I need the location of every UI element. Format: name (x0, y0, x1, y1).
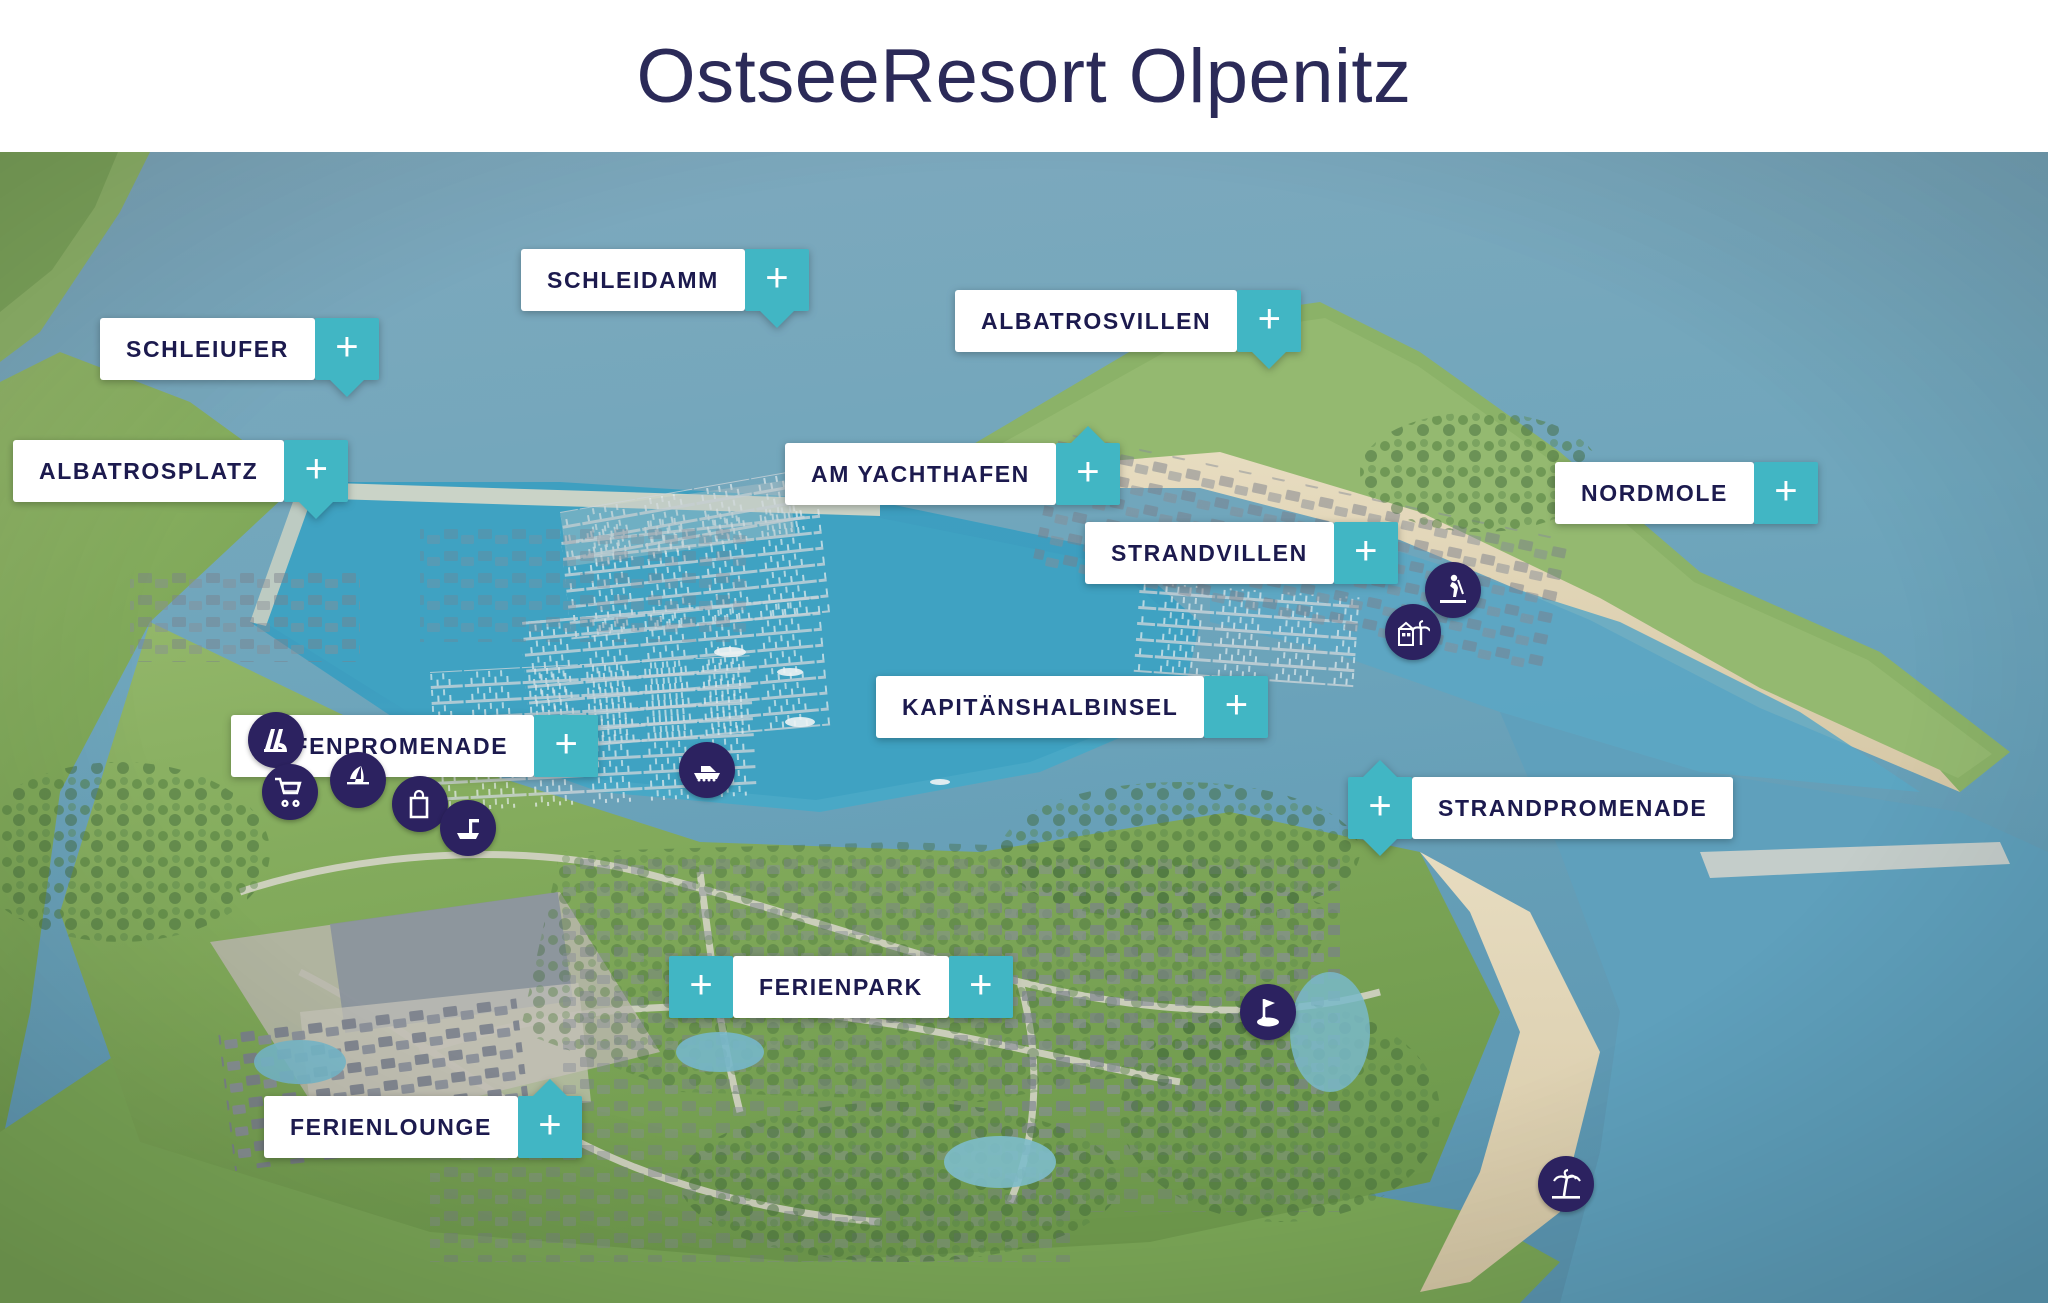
hotspot-label-strandpromenade: STRANDPROMENADE (1438, 795, 1707, 822)
hotspot-label-box-strandvillen[interactable]: STRANDVILLEN (1085, 522, 1334, 584)
plus-button-strandpromenade-left[interactable]: + (1348, 777, 1412, 839)
plus-button-albatrosplatz-right[interactable]: + (284, 440, 348, 502)
plus-icon: + (1258, 299, 1281, 339)
hotspot-strandpromenade[interactable]: +STRANDPROMENADE (1348, 777, 1733, 839)
hotspot-label-box-am-yachthafen[interactable]: AM YACHTHAFEN (785, 443, 1056, 505)
poi-beach[interactable] (1538, 1156, 1594, 1212)
hotspot-label-box-schleiufer[interactable]: SCHLEIUFER (100, 318, 315, 380)
hotspot-label-strandvillen: STRANDVILLEN (1111, 540, 1308, 567)
hotspot-nordmole[interactable]: NORDMOLE+ (1555, 462, 1818, 524)
plus-icon: + (305, 449, 328, 489)
plus-icon: + (1774, 471, 1797, 511)
hotspot-label-albatrosplatz: ALBATROSPLATZ (39, 458, 258, 485)
plus-icon: + (538, 1105, 561, 1145)
hotspot-am-yachthafen[interactable]: AM YACHTHAFEN+ (785, 443, 1120, 505)
shopping-cart-icon (273, 775, 307, 809)
golf-icon (1251, 995, 1285, 1029)
hotspot-label-nordmole: NORDMOLE (1581, 480, 1728, 507)
hotspot-label-kapitaenshalbinsel: KAPITÄNSHALBINSEL (902, 694, 1178, 721)
plus-icon: + (689, 965, 712, 1005)
poi-yacht[interactable] (679, 742, 735, 798)
poi-golf[interactable] (1240, 984, 1296, 1040)
hotspot-ferienlounge[interactable]: FERIENLOUNGE+ (264, 1096, 582, 1158)
motorboat-icon (690, 753, 724, 787)
poi-sailing[interactable] (330, 752, 386, 808)
plus-button-albatrosvillen-right[interactable]: + (1237, 290, 1301, 352)
plus-icon: + (1225, 685, 1248, 725)
page-header: OstseeResort Olpenitz (0, 0, 2048, 152)
resort-palm-icon (1396, 615, 1430, 649)
plus-icon: + (1076, 452, 1099, 492)
boat-ramp-icon (451, 811, 485, 845)
plus-button-kapitaenshalbinsel-right[interactable]: + (1204, 676, 1268, 738)
poi-shopping[interactable] (262, 764, 318, 820)
plus-button-ferienlounge-right[interactable]: + (518, 1096, 582, 1158)
plus-button-ferienpark-right[interactable]: + (949, 956, 1013, 1018)
plus-button-am-yachthafen-right[interactable]: + (1056, 443, 1120, 505)
poi-waterslide[interactable] (248, 712, 304, 768)
hotspot-schleidamm[interactable]: SCHLEIDAMM+ (521, 249, 809, 311)
waterslide-icon (259, 723, 293, 757)
beach-palm-icon (1549, 1167, 1583, 1201)
hotspot-kapitaenshalbinsel[interactable]: KAPITÄNSHALBINSEL+ (876, 676, 1268, 738)
hotspot-label-am-yachthafen: AM YACHTHAFEN (811, 461, 1030, 488)
plus-icon: + (1368, 786, 1391, 826)
plus-button-hafenpromenade-right[interactable]: + (534, 715, 598, 777)
paddleboard-icon (1436, 573, 1470, 607)
hotspot-schleiufer[interactable]: SCHLEIUFER+ (100, 318, 379, 380)
poi-sup[interactable] (1425, 562, 1481, 618)
hotspot-ferienpark[interactable]: +FERIENPARK+ (669, 956, 1013, 1018)
hotspot-label-albatrosvillen: ALBATROSVILLEN (981, 308, 1211, 335)
plus-icon: + (554, 724, 577, 764)
hotspot-label-box-ferienlounge[interactable]: FERIENLOUNGE (264, 1096, 518, 1158)
hotspot-label-box-strandpromenade[interactable]: STRANDPROMENADE (1412, 777, 1733, 839)
plus-icon: + (335, 327, 358, 367)
hotspot-label-ferienlounge: FERIENLOUNGE (290, 1114, 492, 1141)
hotspot-label-ferienpark: FERIENPARK (759, 974, 923, 1001)
plus-button-ferienpark-left[interactable]: + (669, 956, 733, 1018)
shopping-bag-icon (403, 787, 437, 821)
plus-icon: + (969, 965, 992, 1005)
hotspot-strandvillen[interactable]: STRANDVILLEN+ (1085, 522, 1398, 584)
hotspot-label-box-nordmole[interactable]: NORDMOLE (1555, 462, 1754, 524)
hotspot-label-schleiufer: SCHLEIUFER (126, 336, 289, 363)
plus-button-schleiufer-right[interactable]: + (315, 318, 379, 380)
poi-boatramp[interactable] (440, 800, 496, 856)
plus-button-schleidamm-right[interactable]: + (745, 249, 809, 311)
hotspot-label-box-albatrosvillen[interactable]: ALBATROSVILLEN (955, 290, 1237, 352)
map-page: OstseeResort Olpenitz (0, 0, 2048, 1303)
sail-icon (341, 763, 375, 797)
page-title: OstseeResort Olpenitz (636, 33, 1411, 120)
hotspot-label-box-ferienpark[interactable]: FERIENPARK (733, 956, 949, 1018)
hotspot-label-schleidamm: SCHLEIDAMM (547, 267, 719, 294)
plus-button-nordmole-right[interactable]: + (1754, 462, 1818, 524)
plus-button-strandvillen-right[interactable]: + (1334, 522, 1398, 584)
hotspot-label-box-schleidamm[interactable]: SCHLEIDAMM (521, 249, 745, 311)
hotspot-label-box-kapitaenshalbinsel[interactable]: KAPITÄNSHALBINSEL (876, 676, 1204, 738)
hotspot-albatrosplatz[interactable]: ALBATROSPLATZ+ (13, 440, 348, 502)
poi-resort[interactable] (1385, 604, 1441, 660)
plus-icon: + (765, 258, 788, 298)
plus-icon: + (1354, 531, 1377, 571)
hotspot-albatrosvillen[interactable]: ALBATROSVILLEN+ (955, 290, 1301, 352)
hotspot-label-box-albatrosplatz[interactable]: ALBATROSPLATZ (13, 440, 284, 502)
